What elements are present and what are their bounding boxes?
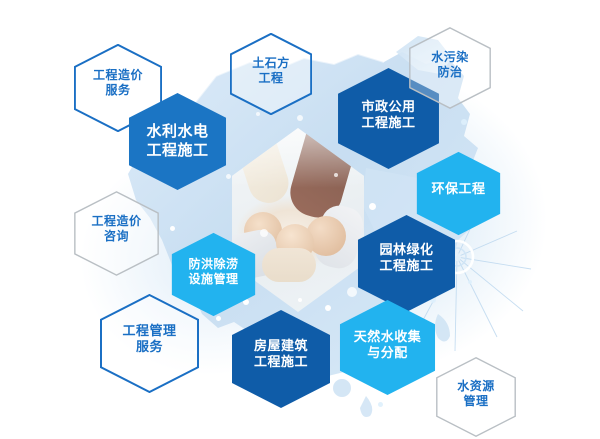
hexagon-label: 水资源 管理: [453, 379, 499, 408]
hexagon-label: 工程造价 服务: [89, 68, 147, 97]
hexagon-badge-water-resource-management[interactable]: 水资源 管理: [436, 357, 516, 431]
hexagon-label: 防洪除涝 设施管理: [184, 257, 242, 286]
hexagon-label: 市政公用 工程施工: [357, 99, 419, 131]
infographic-canvas: 工程造价 服务土石方 工程水利水电 工程施工市政公用 工程施工水污染 防治环保工…: [0, 0, 600, 439]
hexagon-label: 工程造价 咨询: [87, 214, 145, 243]
hexagon-label: 环保工程: [427, 181, 489, 197]
hexagon-label: 土石方 工程: [248, 56, 294, 85]
hexagon-label: 房屋建筑 工程施工: [250, 338, 312, 370]
hexagon-badge-water-conservancy-hydropower-construction[interactable]: 水利水电 工程施工: [128, 92, 227, 191]
hexagon-badge-water-pollution-control[interactable]: 水污染 防治: [409, 27, 491, 103]
hexagon-badge-natural-water-collection-distribution[interactable]: 天然水收集 与分配: [339, 299, 436, 391]
photo-fist-lower-center: [262, 248, 316, 282]
hexagon-badge-engineering-cost-consulting[interactable]: 工程造价 咨询: [74, 191, 159, 267]
hexagon-badge-engineering-management-service[interactable]: 工程管理 服务: [100, 294, 199, 384]
hexagon-badge-earthwork-engineering[interactable]: 土石方 工程: [230, 33, 312, 109]
hexagon-label: 水利水电 工程施工: [142, 123, 212, 160]
hexagon-badge-building-construction-engineering[interactable]: 房屋建筑 工程施工: [231, 309, 331, 399]
hexagon-label: 水污染 防治: [427, 50, 473, 79]
hexagon-label: 园林绿化 工程施工: [375, 242, 437, 274]
hexagon-label: 工程管理 服务: [118, 323, 180, 355]
hexagon-badge-landscape-greening-construction[interactable]: 园林绿化 工程施工: [357, 214, 456, 302]
hexagon-label: 天然水收集 与分配: [350, 329, 426, 361]
